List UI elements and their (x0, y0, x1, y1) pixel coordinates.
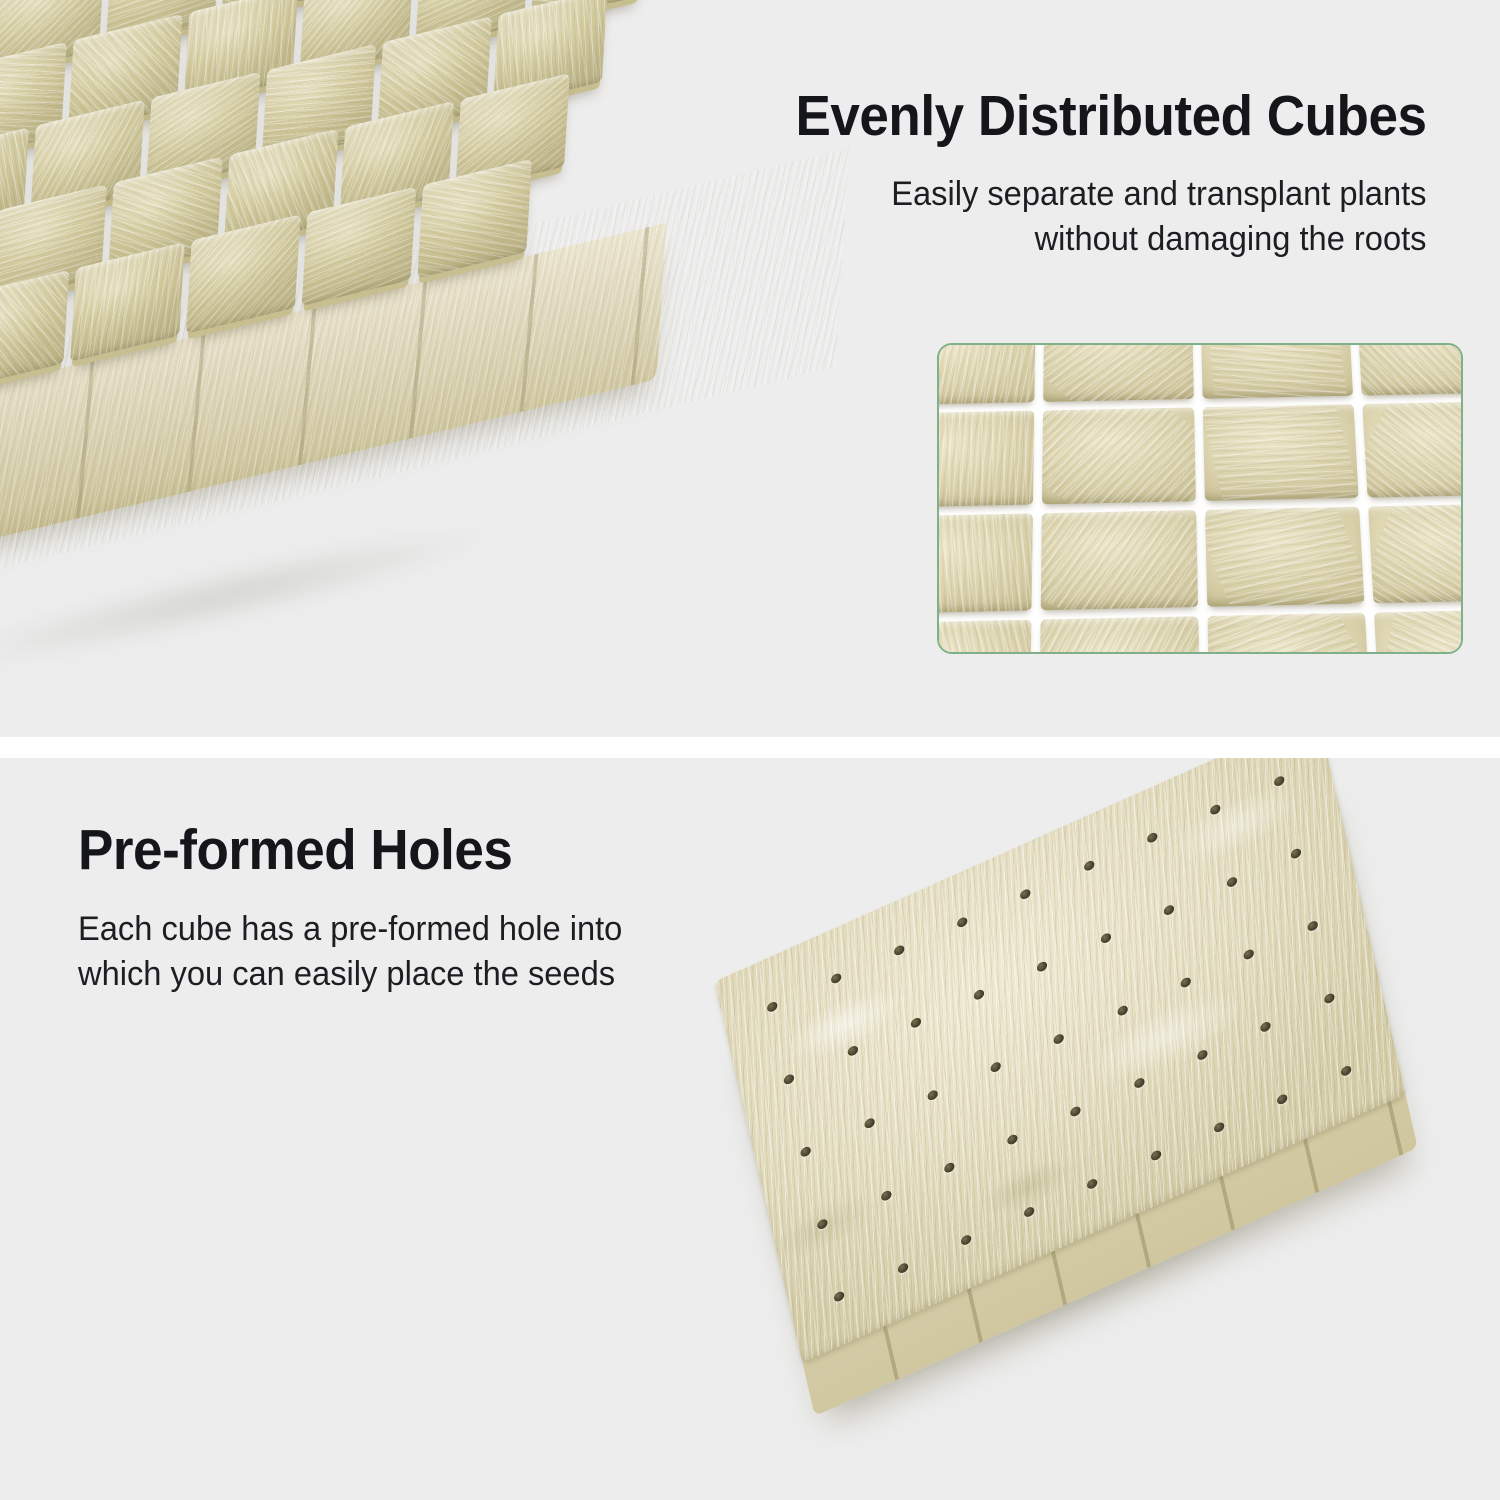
pre-formed-hole (893, 944, 905, 957)
panel-divider (0, 737, 1500, 758)
page-title-cubes: Evenly Distributed Cubes (795, 88, 1426, 145)
pre-formed-hole (880, 1189, 892, 1202)
pre-formed-hole (1133, 1077, 1145, 1090)
rockwool-cube (1040, 510, 1197, 611)
subtitle-line-2: without damaging the roots (775, 217, 1426, 262)
infographic-canvas: Evenly Distributed Cubes Easily separate… (0, 0, 1500, 1500)
rockwool-cube (1202, 404, 1358, 500)
pre-formed-hole (1196, 1048, 1208, 1061)
fibre-texture (1201, 345, 1352, 399)
pre-formed-hole (1083, 859, 1095, 872)
pre-formed-hole (1163, 904, 1175, 917)
pre-formed-hole (1006, 1133, 1018, 1146)
pre-formed-hole (960, 1234, 972, 1247)
subtitle-line-2: which you can easily place the seeds (78, 952, 622, 997)
rockwool-cube (1368, 503, 1461, 603)
inset-cubes-closeup (937, 343, 1463, 654)
rockwool-cube (939, 411, 1034, 508)
rockwool-cube (939, 513, 1032, 614)
pre-formed-hole (766, 1000, 778, 1013)
rockwool-cube (939, 620, 1031, 652)
subtitle-line-1: Each cube has a pre-formed hole into (78, 907, 622, 952)
fibre-texture (939, 411, 1034, 508)
fibre-texture (1207, 613, 1370, 652)
rockwool-cube (1200, 345, 1352, 399)
fibre-texture (1202, 404, 1358, 500)
inset-photo-cubes (939, 345, 1461, 652)
pre-formed-hole (1053, 1032, 1065, 1045)
pre-formed-hole (1213, 1121, 1225, 1134)
rockwool-cube (1205, 506, 1364, 607)
fibre-texture (1368, 503, 1461, 603)
pre-formed-hole (1226, 875, 1238, 888)
fibre-texture (1040, 510, 1197, 611)
pre-formed-hole (943, 1161, 955, 1174)
top-text-block: Evenly Distributed Cubes Easily separate… (748, 88, 1427, 262)
panel-pre-formed-holes: Pre-formed Holes Each cube has a pre-for… (0, 758, 1500, 1500)
bottom-text-block: Pre-formed Holes Each cube has a pre-for… (78, 822, 645, 997)
pre-formed-hole (1210, 803, 1222, 816)
panel-evenly-distributed-cubes: Evenly Distributed Cubes Easily separate… (0, 0, 1500, 737)
rockwool-cube (1042, 408, 1196, 504)
rockwool-cube (0, 270, 69, 390)
slab-body (715, 758, 1406, 1363)
pre-formed-hole (1180, 976, 1192, 989)
fibre-texture (1043, 345, 1194, 402)
pre-formed-hole (897, 1262, 909, 1275)
pre-formed-hole (1116, 1004, 1128, 1017)
pre-formed-hole (1290, 847, 1302, 860)
pre-formed-hole (783, 1073, 795, 1086)
pre-formed-hole (1023, 1205, 1035, 1218)
pre-formed-hole (973, 988, 985, 1001)
rockwool-hole-slab-photo (690, 778, 1500, 1418)
pre-formed-hole (1150, 1149, 1162, 1162)
pre-formed-hole (1276, 1093, 1288, 1106)
rockwool-cube (1373, 609, 1461, 652)
pre-formed-hole (1323, 992, 1335, 1005)
rockwool-cube (939, 345, 1035, 405)
subtitle-holes: Each cube has a pre-formed hole into whi… (78, 907, 622, 997)
subtitle-cubes: Easily separate and transplant plants wi… (775, 172, 1426, 262)
pre-formed-hole (956, 916, 968, 929)
pre-formed-hole (1146, 831, 1158, 844)
fibre-texture (939, 620, 1031, 652)
pre-formed-hole (1306, 920, 1318, 933)
pre-formed-hole (833, 1290, 845, 1303)
pre-formed-hole (910, 1016, 922, 1029)
closeup-cube-grid (939, 345, 1461, 652)
pre-formed-hole (1340, 1064, 1352, 1077)
pre-formed-hole (990, 1061, 1002, 1074)
pre-formed-hole (1273, 775, 1285, 788)
pre-formed-hole (1070, 1105, 1082, 1118)
fibre-texture (1205, 506, 1364, 607)
pre-formed-hole (830, 972, 842, 985)
rockwool-cube (1356, 345, 1461, 396)
pre-formed-hole (1100, 932, 1112, 945)
rockwool-cube (1039, 616, 1200, 652)
fibre-texture (0, 270, 69, 390)
pre-formed-hole (1260, 1020, 1272, 1033)
cubes-closeup-image (939, 345, 1461, 652)
fibre-texture (1356, 345, 1461, 396)
pre-formed-hole (1243, 948, 1255, 961)
fibre-texture (1039, 616, 1200, 652)
pre-formed-hole (926, 1089, 938, 1102)
fibre-texture (1373, 609, 1461, 652)
fibre-texture (939, 513, 1032, 614)
fibre-texture (1362, 401, 1461, 497)
pre-formed-hole (1087, 1177, 1099, 1190)
pre-formed-hole (1036, 960, 1048, 973)
rockwool-cube-slab-photo (0, 10, 860, 710)
fibre-texture (939, 345, 1035, 405)
subtitle-line-1: Easily separate and transplant plants (775, 172, 1426, 217)
pre-formed-hole (800, 1145, 812, 1158)
pre-formed-hole (817, 1218, 829, 1231)
pre-formed-hole (863, 1117, 875, 1130)
pre-formed-hole (1020, 888, 1032, 901)
pre-formed-hole (846, 1045, 858, 1058)
rockwool-cube (1362, 401, 1461, 497)
rockwool-cube (1207, 613, 1370, 652)
fibre-texture (1042, 408, 1196, 504)
page-title-holes: Pre-formed Holes (78, 822, 605, 879)
rockwool-cube (1043, 345, 1194, 402)
